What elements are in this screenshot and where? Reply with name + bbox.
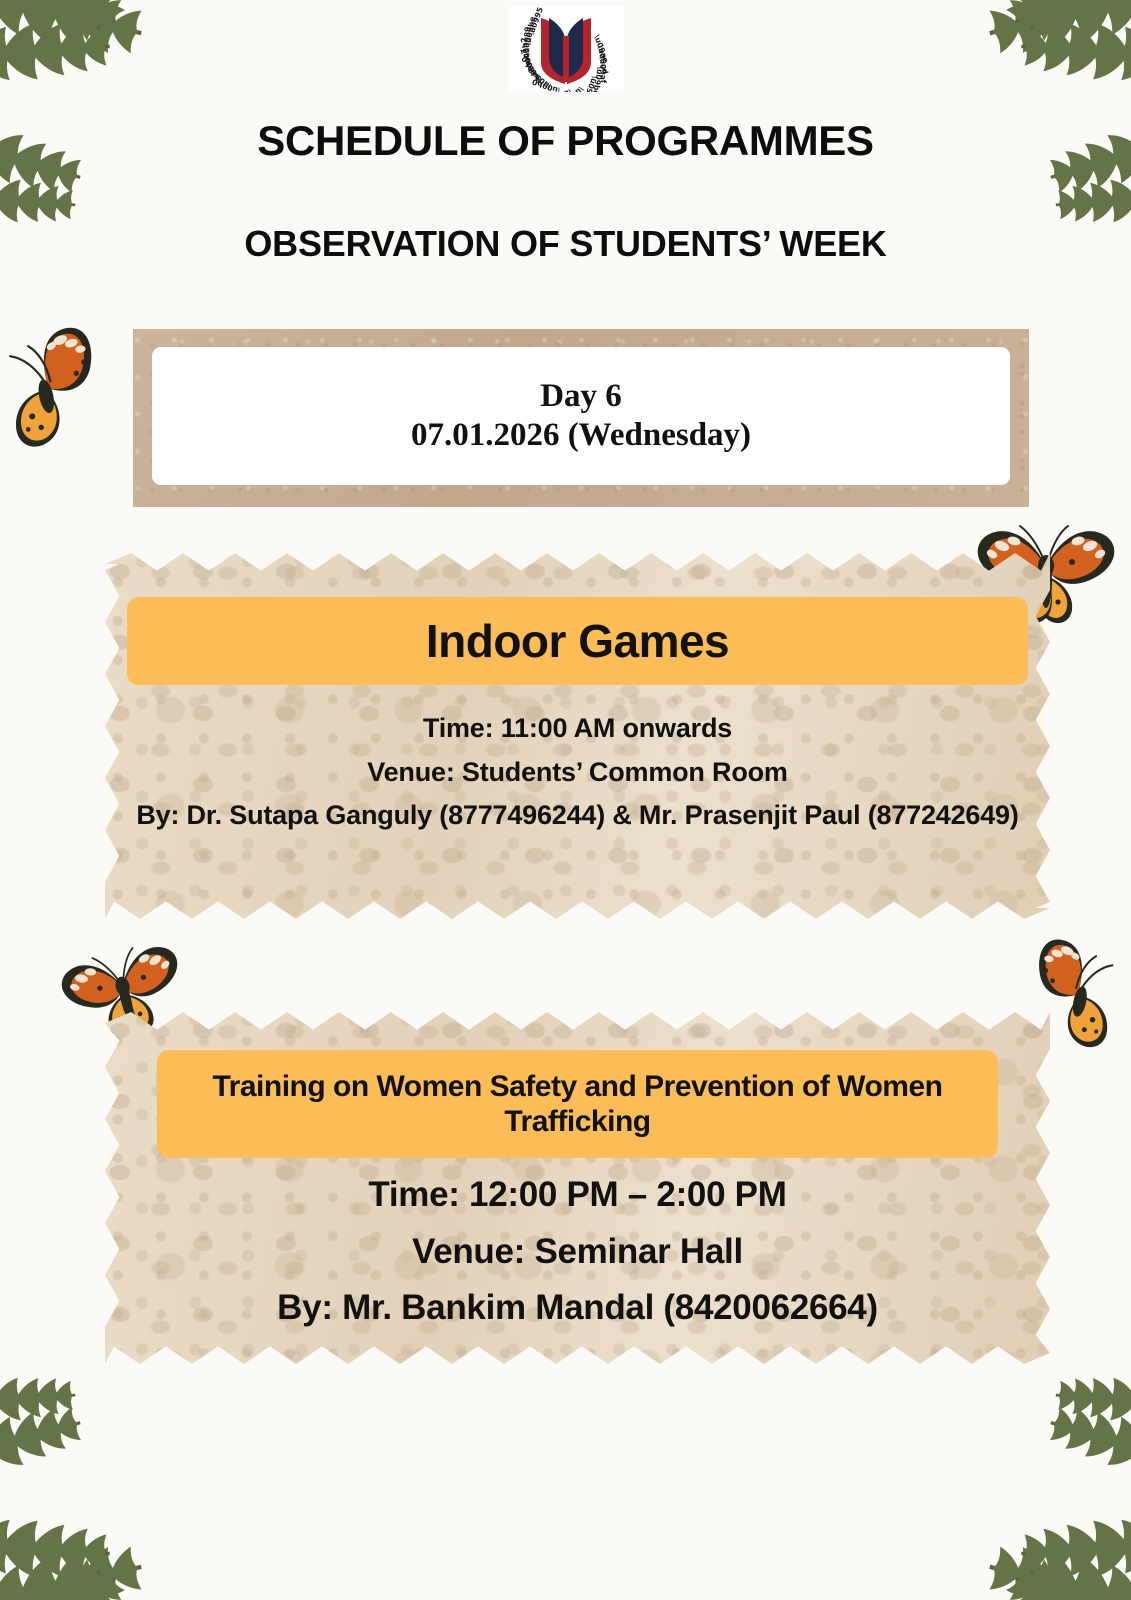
event-title-banner: Training on Women Safety and Prevention … [157,1050,998,1158]
event-panel-women-safety-training: Training on Women Safety and Prevention … [105,1012,1050,1364]
event-time: Time: 12:00 PM – 2:00 PM [119,1167,1036,1224]
page-subtitle: OBSERVATION OF STUDENTS’ WEEK [0,225,1131,264]
event-title: Training on Women Safety and Prevention … [175,1069,980,1140]
event-venue: Venue: Seminar Hall [119,1224,1036,1281]
poster-canvas: \u0995 \u09be \u0989 \u09b2 \u09c7 \u09b… [0,0,1131,1600]
event-presenters: By: Dr. Sutapa Ganguly (8777496244) & Mr… [119,794,1036,838]
event-panel-indoor-games: Indoor Games Time: 11:00 AM onwards Venu… [105,553,1050,919]
day-label: Day 6 [540,377,622,416]
event-presenters: By: Mr. Bankim Mandal (8420062664) [119,1280,1036,1337]
header-block: SCHEDULE OF PROGRAMMES OBSERVATION OF ST… [0,118,1131,264]
page-title: SCHEDULE OF PROGRAMMES [0,118,1131,163]
event-details: Time: 12:00 PM – 2:00 PM Venue: Seminar … [119,1167,1036,1337]
event-title: Indoor Games [426,617,729,666]
date-value: 07.01.2026 (Wednesday) [411,416,751,455]
date-card: Day 6 07.01.2026 (Wednesday) [152,347,1010,485]
butterfly-icon [0,326,112,454]
logo-container: \u0995 \u09be \u0989 \u09b2 \u09c7 \u09b… [0,6,1131,92]
institution-logo-icon: \u0995 \u09be \u0989 \u09b2 \u09c7 \u09b… [508,6,624,92]
event-title-banner: Indoor Games [127,597,1028,685]
fern-leaf-icon [835,1340,1131,1600]
date-card-frame: Day 6 07.01.2026 (Wednesday) [133,329,1029,507]
event-venue: Venue: Students’ Common Room [119,751,1036,795]
fern-leaf-icon [0,1340,296,1600]
event-time: Time: 11:00 AM onwards [119,707,1036,751]
event-details: Time: 11:00 AM onwards Venue: Students’ … [119,707,1036,838]
